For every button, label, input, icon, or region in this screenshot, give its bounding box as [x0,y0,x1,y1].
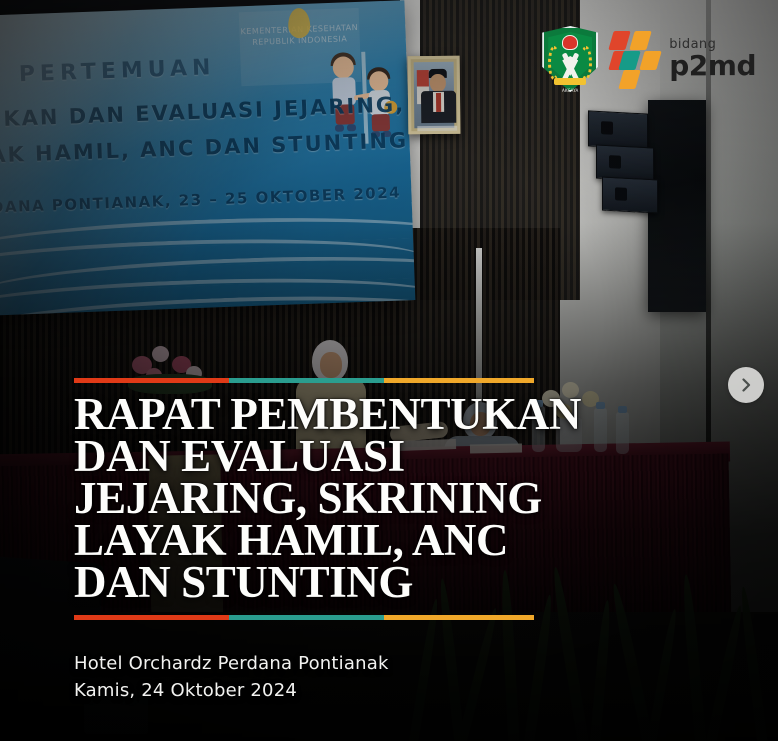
emblem-dome-icon [562,35,578,50]
event-backdrop-banner: KEMENTERIAN KESEHATAN REPUBLIK INDONESIA… [0,0,415,316]
caption-block: RAPAT PEMBENTUKAN DAN EVALUASI JEJARING,… [74,378,544,704]
title-line: DAN STUNTING [74,561,544,603]
venue-label: Hotel Orchardz Perdana Pontianak [74,650,544,677]
water-bottle [594,408,607,452]
chevron-right-icon [738,377,754,393]
title-line: LAYAK HAMIL, ANC [74,519,544,561]
water-bottle [616,412,629,454]
rule-segment-teal [229,378,384,383]
date-label: Kamis, 24 Oktober 2024 [74,677,544,704]
framed-portrait [408,56,461,135]
rule-segment-red [74,615,229,620]
title-line: DAN EVALUASI [74,435,544,477]
rule-segment-teal [229,615,384,620]
banner-glare [0,0,415,316]
kalimantan-barat-emblem-icon: AKCAYA [542,26,598,92]
divider-rule-top [74,378,534,383]
line-array-speaker [602,177,658,214]
slide-title: RAPAT PEMBENTUKAN DAN EVALUASI JEJARING,… [74,393,544,603]
rule-segment-red [74,378,229,383]
title-line: RAPAT PEMBENTUKAN [74,393,544,435]
slide-meta: Hotel Orchardz Perdana Pontianak Kamis, … [74,650,544,704]
title-line: JEJARING, SKRINING [74,477,544,519]
next-slide-button[interactable] [728,367,764,403]
p2md-main-label: p2md [669,52,756,80]
p2md-logo: bidang p2md [610,30,756,88]
emblem-scroll [554,78,586,85]
photo-slide: KEMENTERIAN KESEHATAN REPUBLIK INDONESIA… [0,0,778,741]
seated-person-face [320,352,342,378]
logo-group: AKCAYA bidang p2md [542,26,756,92]
rule-segment-amber [384,378,534,383]
rule-segment-amber [384,615,534,620]
divider-rule-bottom [74,615,534,620]
emblem-motto: AKCAYA [542,88,598,93]
p2md-mark-icon [610,30,662,88]
